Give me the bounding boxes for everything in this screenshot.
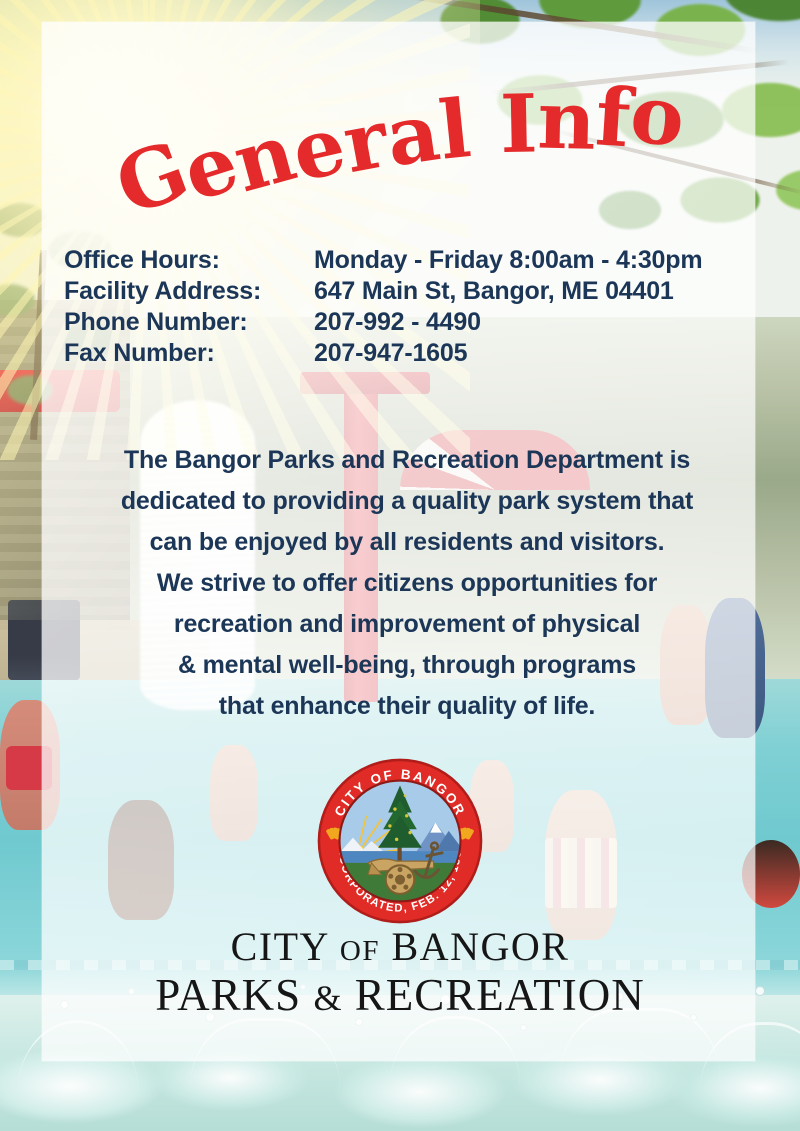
mission-line: We strive to offer citizens opportunitie…: [62, 563, 752, 604]
wordmark-recreation: RECREATION: [355, 970, 645, 1020]
info-row-facility-address: Facility Address: 647 Main St, Bangor, M…: [64, 277, 754, 308]
info-value: 207-947-1605: [314, 339, 754, 368]
info-value: 207-992 - 4490: [314, 308, 754, 337]
mission-line: & mental well-being, through programs: [62, 645, 752, 686]
info-label: Phone Number:: [64, 308, 314, 337]
info-value: 647 Main St, Bangor, ME 04401: [314, 277, 754, 306]
mission-line: recreation and improvement of physical: [62, 604, 752, 645]
wordmark-line-2: PARKS & RECREATION: [0, 970, 800, 1020]
wordmark-ampersand: &: [313, 978, 342, 1018]
city-of-bangor-seal-icon: CITY OF BANGOR INCORPORATED, FEB. 12, 18…: [316, 757, 484, 925]
wordmark-city: CITY: [231, 924, 329, 969]
seal-wrapper: CITY OF BANGOR INCORPORATED, FEB. 12, 18…: [0, 757, 800, 930]
wordmark-of: OF: [340, 935, 380, 967]
info-row-fax-number: Fax Number: 207-947-1605: [64, 339, 754, 370]
info-label: Fax Number:: [64, 339, 314, 368]
mission-line: The Bangor Parks and Recreation Departme…: [62, 440, 752, 481]
wordmark-line-1: CITY OF BANGOR: [0, 925, 800, 970]
info-value: Monday - Friday 8:00am - 4:30pm: [314, 246, 754, 275]
info-row-phone-number: Phone Number: 207-992 - 4490: [64, 308, 754, 339]
general-info-list: Office Hours: Monday - Friday 8:00am - 4…: [64, 246, 754, 370]
poster-title-wrapper: General Info: [0, 96, 800, 216]
info-label: Facility Address:: [64, 277, 314, 306]
info-row-office-hours: Office Hours: Monday - Friday 8:00am - 4…: [64, 246, 754, 277]
mission-statement: The Bangor Parks and Recreation Departme…: [62, 440, 752, 727]
mission-line: that enhance their quality of life.: [62, 686, 752, 727]
mission-line: dedicated to providing a quality park sy…: [62, 481, 752, 522]
wordmark-bangor: BANGOR: [392, 924, 570, 969]
poster-flyer: General Info Office Hours: Monday - Frid…: [0, 0, 800, 1131]
page-title: General Info: [109, 61, 690, 211]
mission-line: can be enjoyed by all residents and visi…: [62, 522, 752, 563]
wordmark-parks: PARKS: [155, 970, 301, 1020]
info-label: Office Hours:: [64, 246, 314, 275]
parks-and-recreation-wordmark: CITY OF BANGOR PARKS & RECREATION: [0, 925, 800, 1020]
